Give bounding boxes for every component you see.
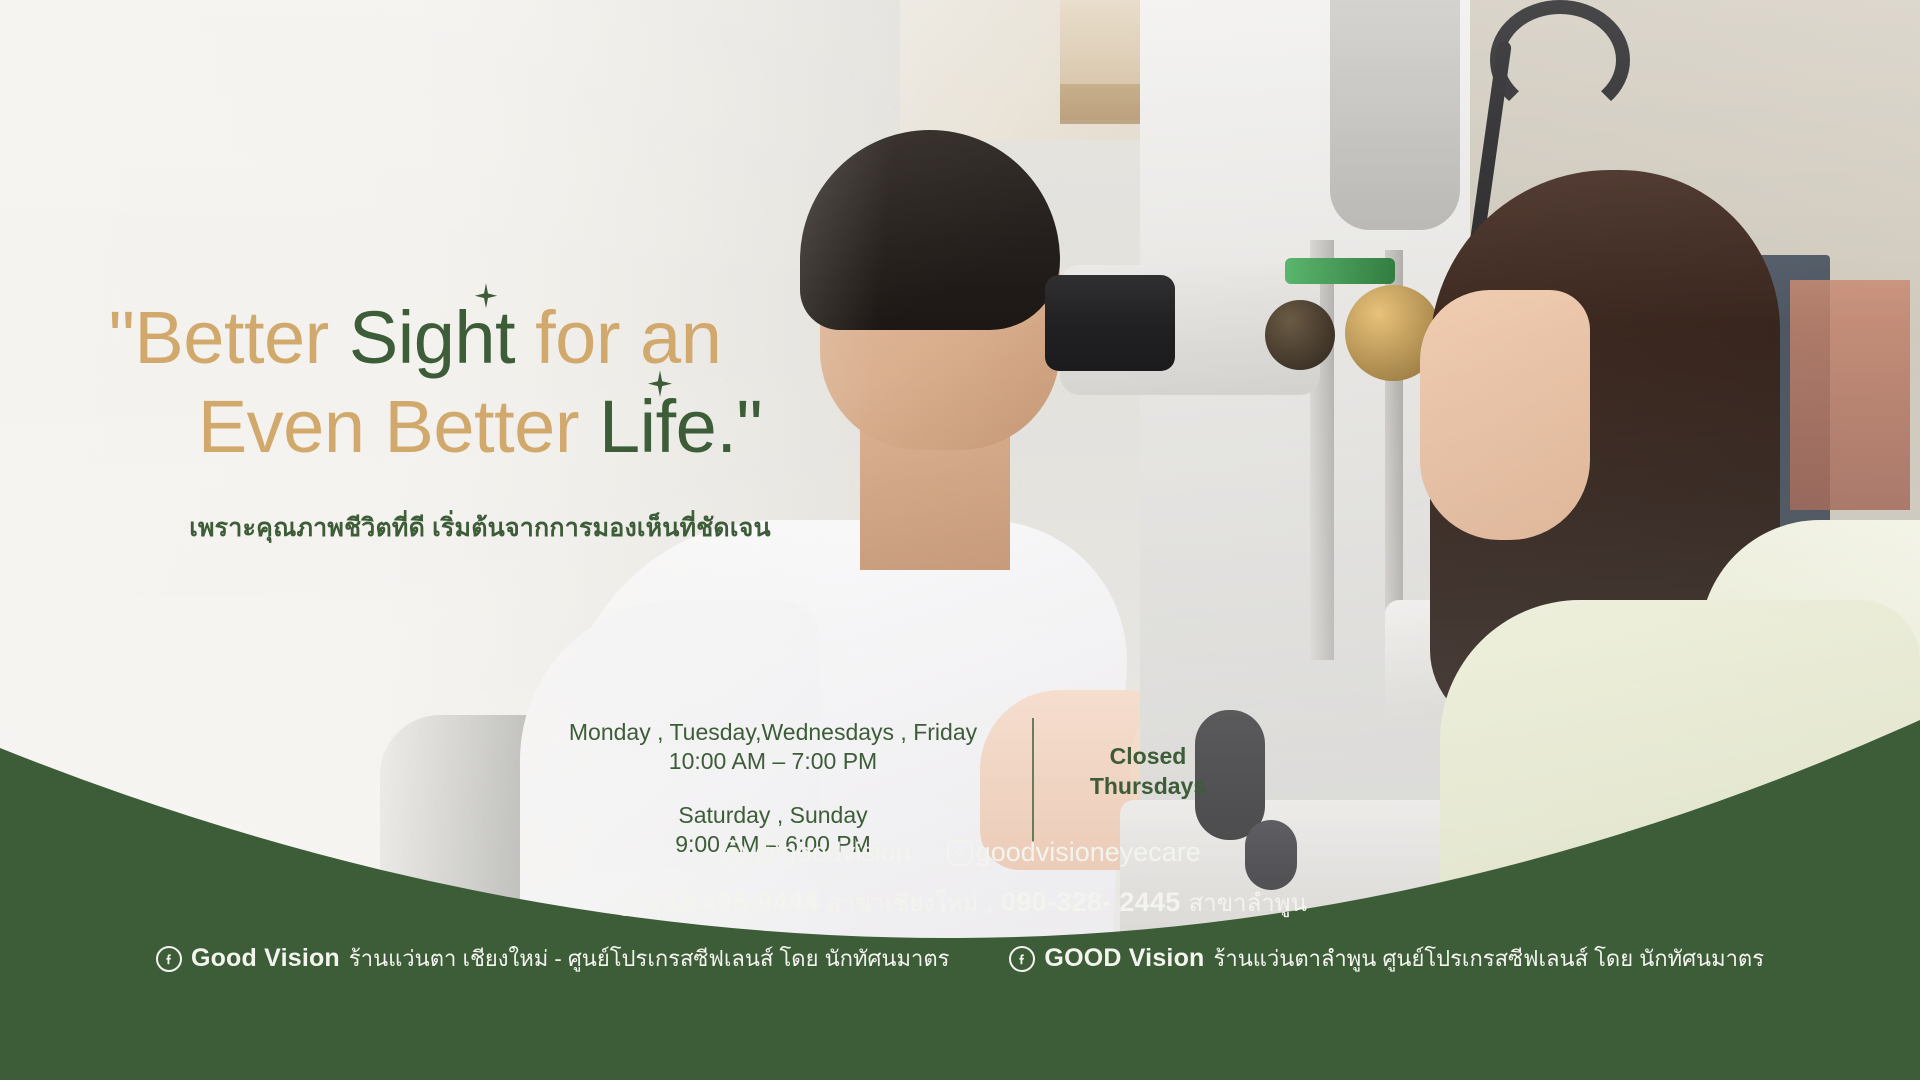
headline-block: "Better Sight for an Even Better Life." [0, 300, 820, 465]
facebook-icon [156, 946, 182, 972]
headline-line2-part2-wrap: Life. [599, 385, 736, 468]
eyecare-promo-banner: "Better Sight for an Even Better Life." … [0, 0, 1920, 1080]
footer-phone-row: 092-495-9444 สาขาเชียงใหม่ , 090-328- 24… [0, 883, 1920, 922]
instagram-account[interactable]: goodvisioneyecare [947, 837, 1201, 868]
headline-subtitle-thai: เพราะคุณภาพชีวิตที่ดี เริ่มต้นจากการมองเ… [0, 508, 960, 548]
closed-day: Thursdays [1056, 772, 1240, 802]
footer-social-row: @goodvision goodvisioneyecare [0, 837, 1920, 868]
headline-line1-part3: for an [515, 296, 721, 379]
phone-separator: , [986, 889, 993, 917]
hours-weekday-time: 10:00 AM – 7:00 PM [560, 747, 986, 776]
headline-line1-part2-wrap: Sight [349, 296, 515, 379]
line-account[interactable]: @goodvision [719, 837, 911, 868]
hours-weekday-group: Monday , Tuesday,Wednesdays , Friday 10:… [560, 718, 986, 777]
footer-facebook-row: Good Vision ร้านแว่นตา เชียงใหม่ - ศูนย์… [0, 941, 1920, 976]
instagram-icon [947, 840, 973, 866]
facebook-desc-right: ร้านแว่นตาลำพูน ศูนย์โปรเกรสซีฟเลนส์ โดย… [1214, 941, 1765, 976]
facebook-page-lamphun[interactable]: GOOD Vision ร้านแว่นตาลำพูน ศูนย์โปรเกรส… [1009, 941, 1764, 976]
headline-line-1: "Better Sight for an [0, 300, 820, 375]
instagram-handle-label: goodvisioneyecare [976, 837, 1201, 868]
hours-weekday-days: Monday , Tuesday,Wednesdays , Friday [560, 718, 986, 747]
facebook-desc-left: ร้านแว่นตา เชียงใหม่ - ศูนย์โปรเกรสซีฟเล… [349, 941, 950, 976]
facebook-page-chiangmai[interactable]: Good Vision ร้านแว่นตา เชียงใหม่ - ศูนย์… [156, 941, 949, 976]
headline-line2-part3: " [736, 385, 762, 468]
phone-icon [613, 890, 639, 916]
facebook-brand-left: Good Vision [191, 944, 340, 973]
phone-branch-2: สาขาลำพูน [1189, 883, 1307, 922]
facebook-icon-2 [1009, 946, 1035, 972]
phone-number-1[interactable]: 092-495-9444 [647, 887, 819, 918]
hours-weekend-days: Saturday , Sunday [560, 801, 986, 830]
closed-label: Closed [1056, 742, 1240, 772]
headline-line1-part1: "Better [109, 296, 349, 379]
line-icon [719, 840, 745, 866]
facebook-brand-right: GOOD Vision [1044, 944, 1204, 973]
line-handle-label: @goodvision [754, 837, 911, 868]
headline-line2-part1: Even Better [198, 385, 599, 468]
phone-branch-1: สาขาเชียงใหม่ [827, 883, 979, 922]
headline-line-2: Even Better Life." [0, 389, 820, 464]
phone-number-2[interactable]: 090-328- 2445 [1001, 887, 1181, 918]
